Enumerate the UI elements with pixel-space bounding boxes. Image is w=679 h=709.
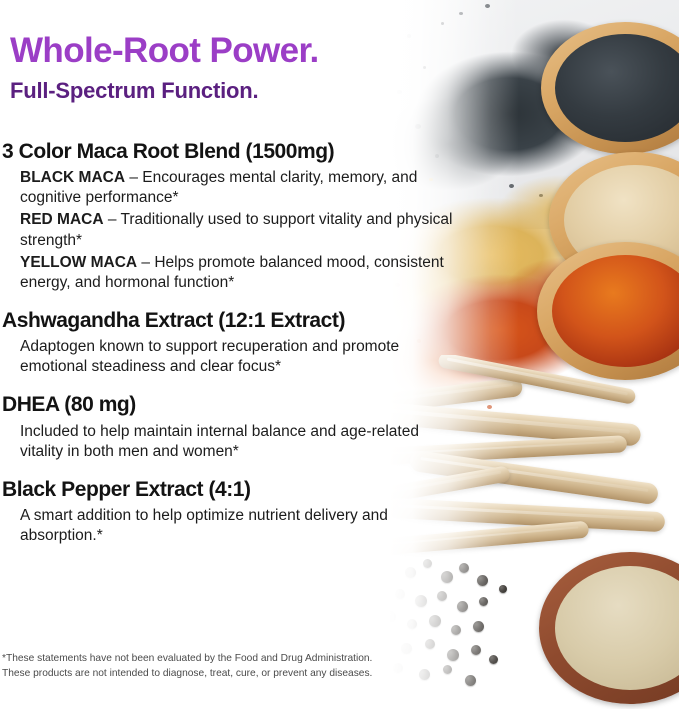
section-body: Adaptogen known to support recuperation … (2, 337, 462, 377)
section-maca-blend: 3 Color Maca Root Blend (1500mg) BLACK M… (2, 140, 462, 293)
bullet-lead: RED MACA (20, 211, 104, 228)
disclaimer-line-2: These products are not intended to diagn… (2, 667, 472, 682)
section-title: Black Pepper Extract (4:1) (2, 478, 462, 502)
product-infographic: Whole-Root Power. Full-Spectrum Function… (0, 0, 679, 709)
list-item: YELLOW MACA – Helps promote balanced moo… (20, 253, 462, 293)
section-title: Ashwagandha Extract (12:1 Extract) (2, 309, 462, 333)
text-column: Whole-Root Power. Full-Spectrum Function… (0, 0, 470, 709)
section-title: 3 Color Maca Root Blend (1500mg) (2, 140, 462, 164)
headline-block: Whole-Root Power. Full-Spectrum Function… (10, 33, 319, 103)
bullet-text: Adaptogen known to support recuperation … (20, 338, 399, 375)
bullet-text: Included to help maintain internal balan… (20, 423, 419, 460)
section-body: A smart addition to help optimize nutrie… (2, 506, 462, 546)
page-title: Whole-Root Power. (10, 33, 319, 70)
section-title: DHEA (80 mg) (2, 393, 462, 417)
section-ashwagandha: Ashwagandha Extract (12:1 Extract) Adapt… (2, 309, 462, 377)
fda-disclaimer: *These statements have not been evaluate… (2, 652, 472, 682)
ingredient-sections: 3 Color Maca Root Blend (1500mg) BLACK M… (2, 140, 462, 562)
list-item: BLACK MACA – Encourages mental clarity, … (20, 168, 462, 208)
list-item: A smart addition to help optimize nutrie… (20, 506, 462, 546)
page-subtitle: Full-Spectrum Function. (10, 78, 319, 103)
section-body: BLACK MACA – Encourages mental clarity, … (2, 168, 462, 293)
bullet-lead: YELLOW MACA (20, 254, 137, 271)
section-body: Included to help maintain internal balan… (2, 422, 462, 462)
section-dhea: DHEA (80 mg) Included to help maintain i… (2, 393, 462, 461)
bullet-lead: BLACK MACA (20, 169, 125, 186)
list-item: Adaptogen known to support recuperation … (20, 337, 462, 377)
disclaimer-line-1: *These statements have not been evaluate… (2, 652, 472, 667)
bullet-text: A smart addition to help optimize nutrie… (20, 507, 388, 544)
section-black-pepper: Black Pepper Extract (4:1) A smart addit… (2, 478, 462, 546)
list-item: RED MACA – Traditionally used to support… (20, 210, 462, 250)
list-item: Included to help maintain internal balan… (20, 422, 462, 462)
